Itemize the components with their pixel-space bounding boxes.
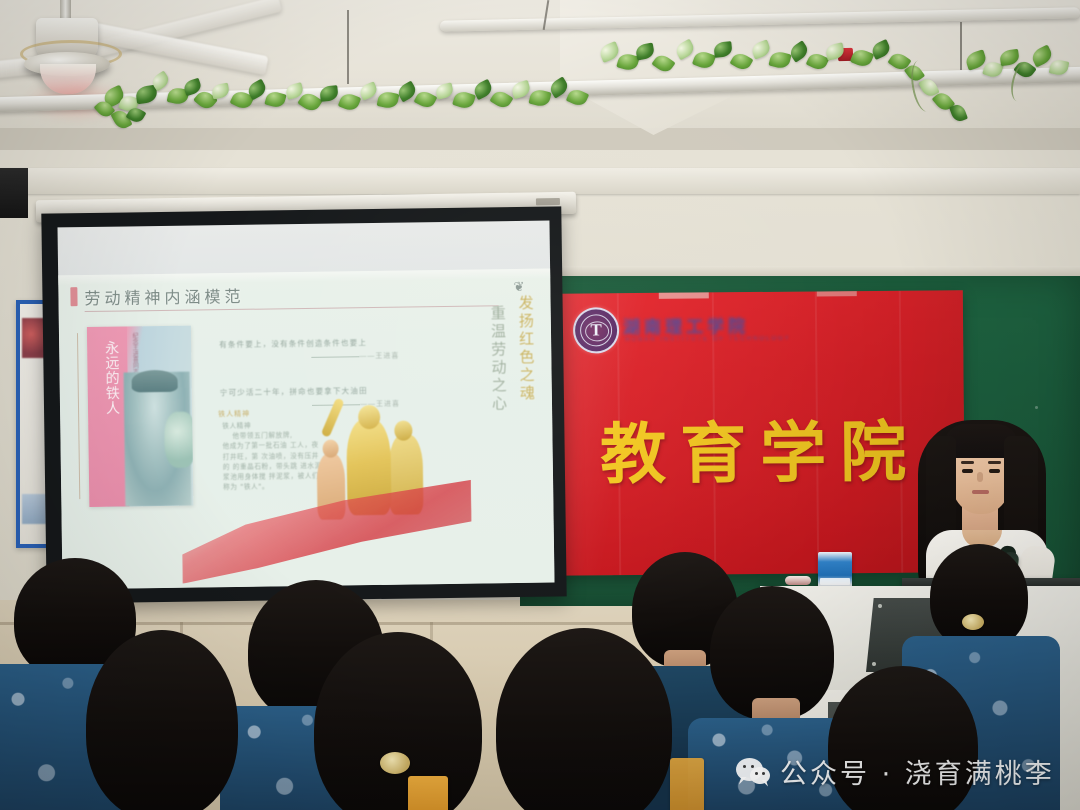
hanging-wire: [347, 10, 349, 84]
audience-head: [930, 544, 1028, 650]
bird-icon: ❦: [513, 279, 524, 295]
body-line: 的重晶石粉，带头跳: [233, 462, 298, 471]
poster-bouquet: [164, 412, 193, 468]
slide-vertical-text-left: 重温劳动之心: [488, 305, 511, 413]
slide-title: 劳动精神内涵模范: [84, 283, 244, 309]
audience-head: [496, 628, 672, 810]
body-line: 他成为了第一批石油: [223, 442, 288, 451]
projector-screen-surface: 劳动精神内涵模范 ❦ 永远的铁人 纪念王进喜同志诞辰一百周年 有条件要上，没有条…: [57, 221, 554, 590]
slide-body-heading: 铁人精神: [218, 409, 250, 419]
presenter-mouth: [972, 490, 989, 494]
slide-book-poster: 永远的铁人 纪念王进喜同志诞辰一百周年: [87, 326, 194, 507]
body-line: 他带领五门解放牌,: [222, 430, 322, 442]
poster-portrait-hat: [132, 370, 178, 393]
body-line: "铁人"。: [240, 483, 269, 491]
watermark-text: 公众号 · 浇育满桃李: [780, 752, 1055, 791]
slide-quote-1: 有条件要上，没有条件创造条件也要上: [219, 337, 367, 350]
watermark: 公众号 · 浇育满桃李: [736, 752, 1055, 791]
statue-head: [322, 440, 338, 458]
slide-vertical-text-right: 发扬红色之魂: [515, 295, 538, 403]
audience-head: [86, 630, 238, 810]
screen-case-label: [536, 198, 560, 205]
body-line: 铁人精神: [222, 422, 251, 430]
wall-trim-band: [0, 168, 1080, 194]
poster-title: 永远的铁人: [93, 341, 120, 416]
wechat-icon: [736, 758, 770, 786]
statue-head: [394, 420, 412, 440]
wall-speaker: [0, 168, 28, 218]
screenshot-root: T 湖南理工学院 HUNAN INSTITUTE OF TECHNOLOGY 教…: [0, 0, 1080, 810]
slide-body-text: 铁人精神 他带领五门解放牌, 他成为了第一批石油 工人，夜打井旺，第 次油喷，没…: [222, 420, 323, 493]
slide-vertical-rule: [77, 333, 80, 499]
wall-poster-art: [22, 494, 46, 524]
slide-title-accent-bar: [70, 287, 77, 306]
chair-back: [408, 776, 448, 810]
statue-raised-arm: [321, 397, 345, 437]
hair-tie: [962, 614, 984, 630]
presenter-nose: [977, 472, 983, 482]
hanging-wire: [960, 22, 962, 70]
chair-back: [670, 758, 704, 810]
slide-quote-1-author: ——王进喜: [359, 351, 399, 362]
audience-head: [314, 632, 482, 810]
slide-top-gradient: [58, 269, 550, 286]
quote-dash: [311, 356, 359, 358]
hair-tie: [380, 752, 410, 774]
